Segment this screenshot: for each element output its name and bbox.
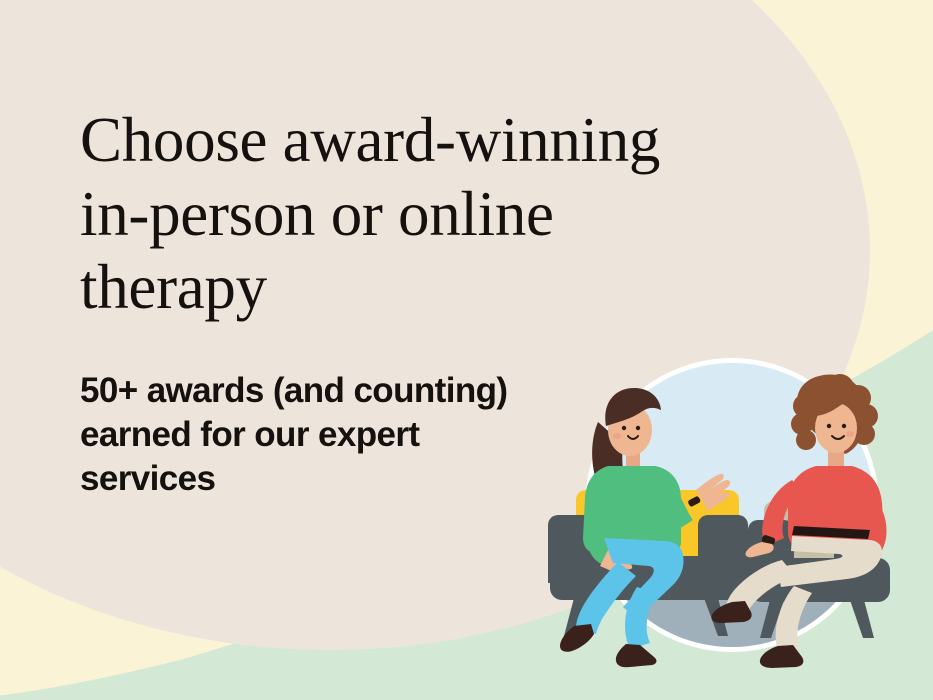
blush-right [846, 431, 854, 437]
promo-banner: Choose award-winning in-person or online… [0, 0, 933, 700]
hair-curl-8 [796, 430, 816, 450]
shoe-front-left [616, 644, 657, 667]
blush-left [613, 433, 621, 439]
eye-left-2 [636, 426, 640, 430]
eye-left-1 [622, 426, 626, 430]
eye-right-2 [842, 424, 846, 428]
page-subtitle: 50+ awards (and counting) earned for our… [80, 369, 560, 501]
shoe-back-left [560, 624, 594, 652]
shoe-front-right [760, 645, 803, 668]
illustration-two-women-therapy [520, 330, 933, 700]
chair-leg-right [850, 600, 874, 638]
page-title: Choose award-winning in-person or online… [80, 104, 780, 325]
eye-right-1 [827, 424, 831, 428]
